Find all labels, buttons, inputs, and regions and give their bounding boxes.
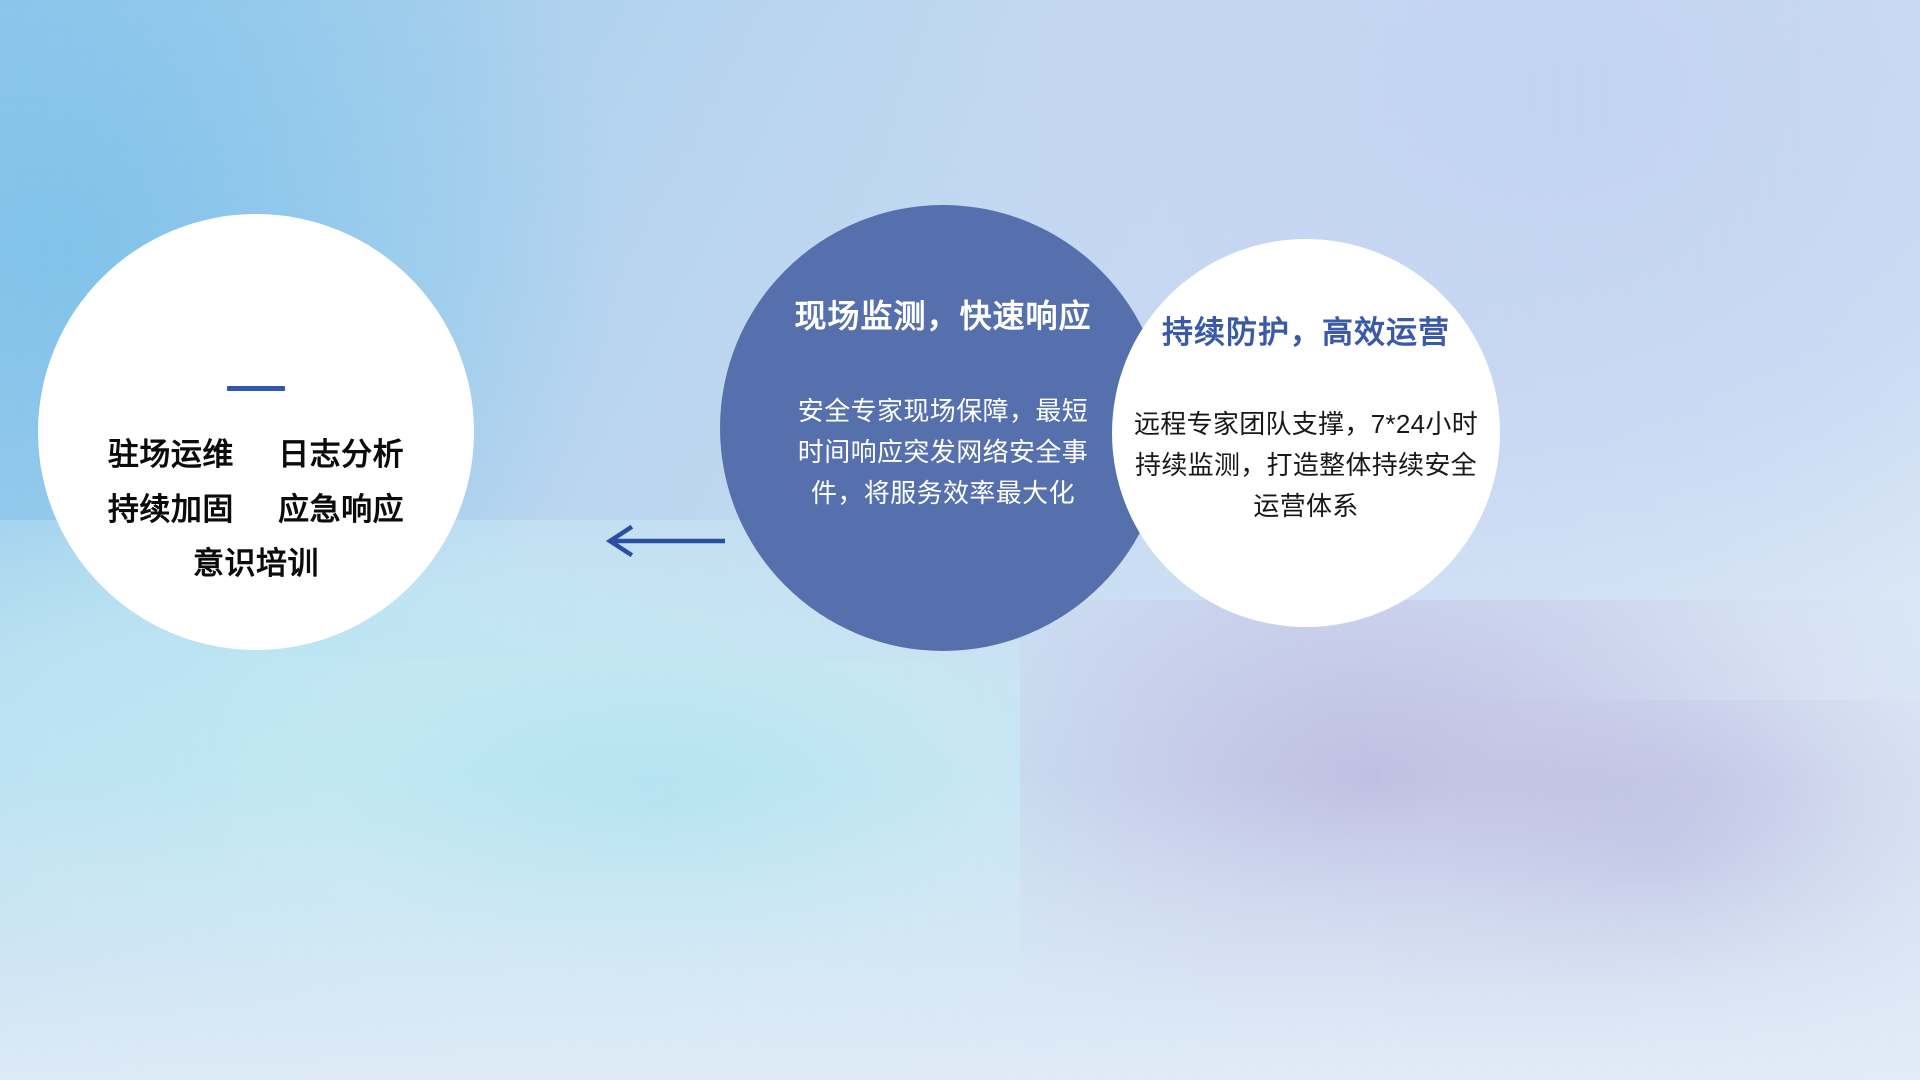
- arrow-left-icon: [590, 515, 725, 567]
- onsite-circle-content: 现场监测，快速响应 安全专家现场保障，最短时间响应突发网络安全事件，将服务效率最…: [720, 205, 1166, 651]
- capability-row-1: 驻场运维 日志分析: [108, 439, 404, 472]
- capability-label-onsite-ops: 驻场运维: [108, 437, 234, 472]
- capability-circle[interactable]: 驻场运维 日志分析 持续加固 应急响应 意识培训: [38, 214, 474, 650]
- capability-circle-content: 驻场运维 日志分析 持续加固 应急响应 意识培训: [38, 214, 474, 650]
- capability-label-awareness-training: 意识培训: [193, 546, 319, 581]
- capability-row-3: 意识培训: [108, 548, 404, 581]
- continuous-ops-body-text: 远程专家团队支撑，7*24小时持续监测，打造整体持续安全运营体系: [1130, 404, 1482, 527]
- onsite-title: 现场监测，快速响应: [794, 291, 1091, 337]
- continuous-ops-title: 持续防护，高效运营: [1162, 307, 1450, 352]
- capability-label-log-analysis: 日志分析: [278, 437, 404, 472]
- capability-label-continuous-hardening: 持续加固: [108, 492, 234, 527]
- continuous-ops-circle[interactable]: 持续防护，高效运营 远程专家团队支撑，7*24小时持续监测，打造整体持续安全运营…: [1112, 239, 1500, 627]
- capability-row-2: 持续加固 应急响应: [108, 494, 404, 527]
- capability-list: 驻场运维 日志分析 持续加固 应急响应 意识培训: [108, 439, 404, 581]
- capability-label-emergency-response: 应急响应: [278, 492, 404, 527]
- slide-canvas: 驻场运维 日志分析 持续加固 应急响应 意识培训 现: [0, 0, 1920, 1080]
- onsite-circle[interactable]: 现场监测，快速响应 安全专家现场保障，最短时间响应突发网络安全事件，将服务效率最…: [720, 205, 1166, 651]
- onsite-body-text: 安全专家现场保障，最短时间响应突发网络安全事件，将服务效率最大化: [793, 391, 1093, 514]
- continuous-ops-circle-content: 持续防护，高效运营 远程专家团队支撑，7*24小时持续监测，打造整体持续安全运营…: [1112, 239, 1500, 627]
- title-divider-dash: [227, 386, 285, 391]
